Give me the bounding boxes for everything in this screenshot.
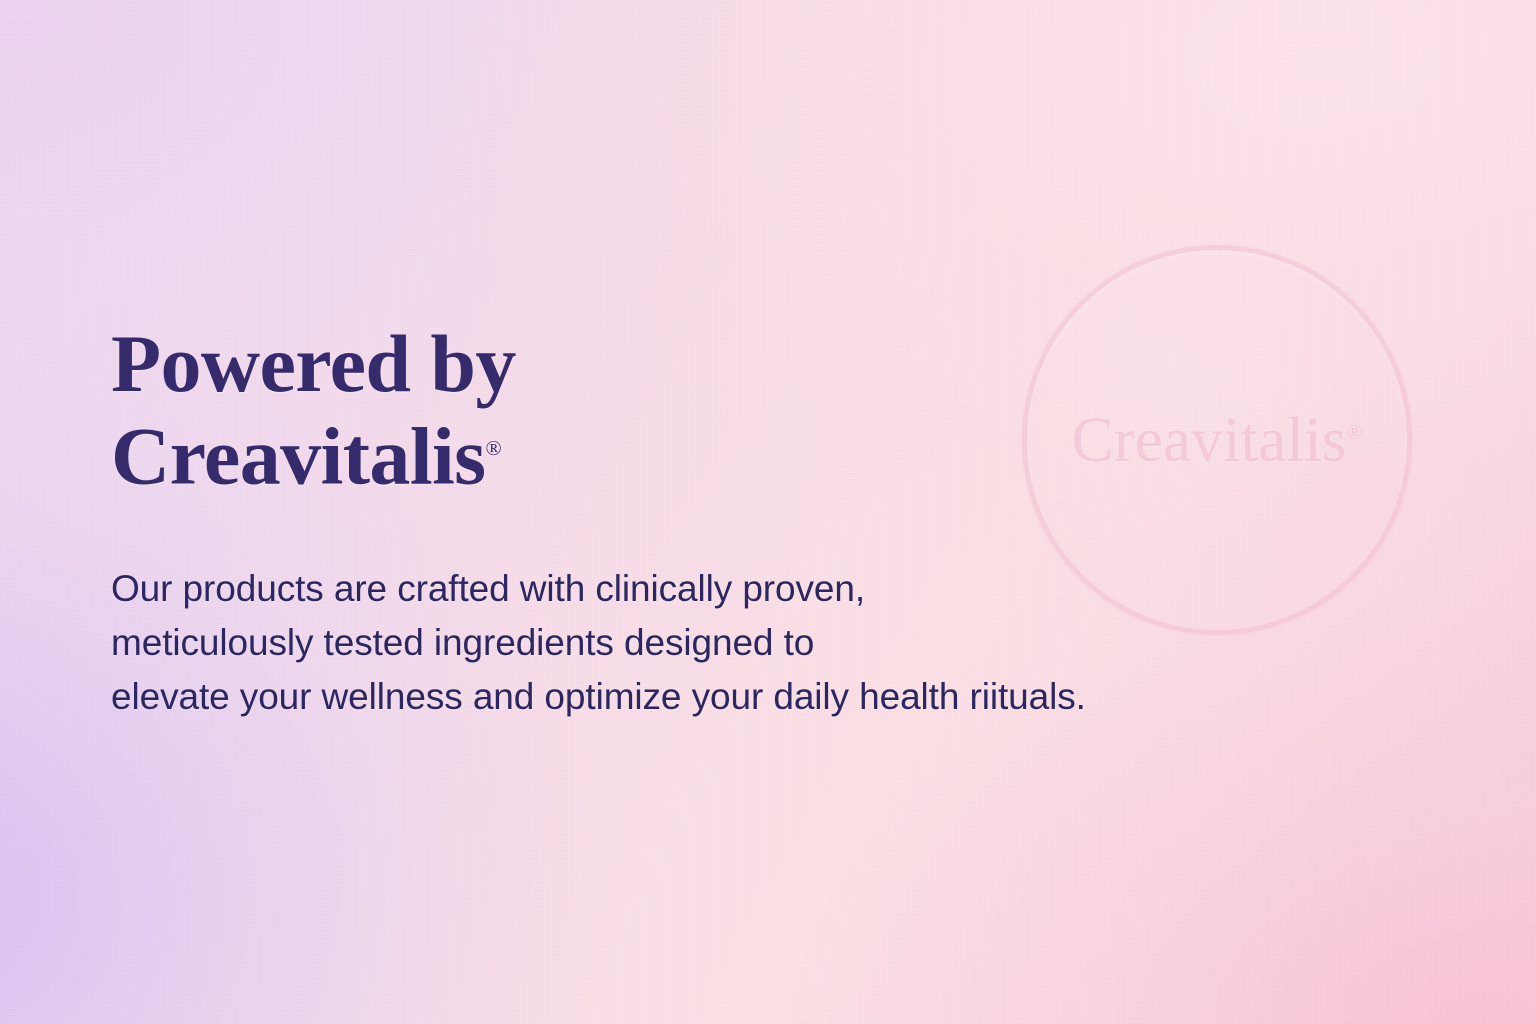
subcopy-line-1: Our products are crafted with clinically… <box>111 562 1231 616</box>
subcopy-line-2: meticulously tested ingredients designed… <box>111 616 1231 670</box>
subcopy-line-3: elevate your wellness and optimize your … <box>111 670 1231 724</box>
headline-registered-mark-icon: ® <box>486 436 502 460</box>
headline-line-1: Powered by <box>111 322 1231 406</box>
brand-slide: Creavitalis® Powered by Creavitalis® Our… <box>0 0 1536 1024</box>
subcopy-paragraph: Our products are crafted with clinically… <box>111 562 1231 724</box>
headline-line-2: Creavitalis® <box>111 406 1231 498</box>
headline-brand-name: Creavitalis <box>111 410 486 501</box>
content-block: Powered by Creavitalis® Our products are… <box>111 322 1231 724</box>
page-title: Powered by Creavitalis® <box>111 322 1231 498</box>
